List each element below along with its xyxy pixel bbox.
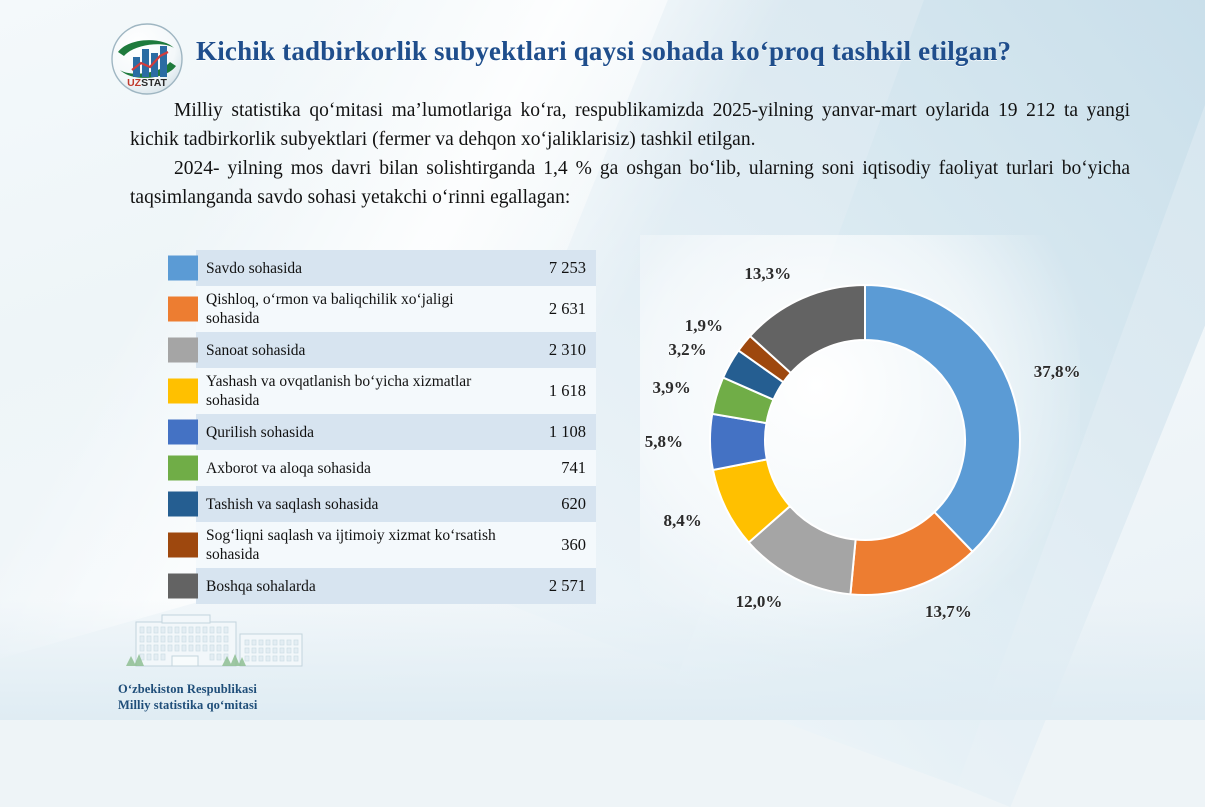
legend-color-swatch [168, 379, 198, 404]
legend-color-swatch [168, 297, 198, 322]
legend-row[interactable]: Boshqa sohalarda 2 571 [168, 568, 598, 604]
legend-value: 7 253 [512, 258, 586, 278]
legend-color-swatch [168, 420, 198, 445]
legend-row[interactable]: Sanoat sohasida 2 310 [168, 332, 598, 368]
footer-line-1: O‘zbekiston Respublikasi [118, 681, 448, 697]
legend-row[interactable]: Sog‘liqni saqlash va ijtimoiy xizmat ko‘… [168, 522, 598, 568]
legend-value: 2 631 [512, 299, 586, 319]
legend-label: Boshqa sohalarda [206, 577, 512, 596]
legend-value: 620 [512, 494, 586, 514]
legend-value: 2 571 [512, 576, 586, 596]
legend-label: Savdo sohasida [206, 259, 512, 278]
legend-color-swatch [168, 574, 198, 599]
paragraph-comparison: 2024- yilning mos davri bilan solishtirg… [130, 154, 1130, 212]
donut-percent-label: 12,0% [736, 592, 783, 612]
legend-color-swatch [168, 256, 198, 281]
legend-color-swatch [168, 492, 198, 517]
legend-label: Qurilish sohasida [206, 423, 512, 442]
legend-label: Sanoat sohasida [206, 341, 512, 360]
donut-chart-svg [640, 250, 1100, 650]
body-text: Milliy statistika qo‘mitasi ma’lumotlari… [130, 96, 1130, 212]
legend-value: 360 [512, 535, 586, 555]
legend-color-swatch [168, 533, 198, 558]
page-title: Kichik tadbirkorlik subyektlari qaysi so… [196, 36, 1156, 67]
donut-percent-label: 5,8% [645, 432, 683, 452]
svg-text:UZSTAT: UZSTAT [127, 77, 167, 89]
header: UZSTAT Kichik tadbirkorlik subyektlari q… [0, 0, 1205, 95]
legend-color-swatch [168, 338, 198, 363]
legend-label: Sog‘liqni saqlash va ijtimoiy xizmat ko‘… [206, 526, 512, 564]
legend-color-swatch [168, 456, 198, 481]
legend-value: 1 108 [512, 422, 586, 442]
statistics-committee-building-icon [118, 612, 314, 674]
legend-label: Yashash va ovqatlanish bo‘yicha xizmatla… [206, 372, 512, 410]
legend-row[interactable]: Qishloq, o‘rmon va baliqchilik xo‘jaligi… [168, 286, 598, 332]
uzstat-bar-chart-logo-icon: UZSTAT [110, 22, 184, 96]
donut-chart: 37,8%13,7%12,0%8,4%5,8%3,9%3,2%1,9%13,3% [640, 250, 1100, 650]
legend-label: Tashish va saqlash sohasida [206, 495, 512, 514]
donut-percent-label: 13,7% [925, 602, 972, 622]
legend-label: Axborot va aloqa sohasida [206, 459, 512, 478]
legend-row[interactable]: Tashish va saqlash sohasida 620 [168, 486, 598, 522]
footer-line-2: Milliy statistika qo‘mitasi [118, 697, 448, 713]
donut-percent-label: 3,2% [668, 340, 706, 360]
legend-value: 2 310 [512, 340, 586, 360]
legend-row[interactable]: Axborot va aloqa sohasida 741 [168, 450, 598, 486]
legend-label: Qishloq, o‘rmon va baliqchilik xo‘jaligi… [206, 290, 512, 328]
donut-percent-label: 8,4% [664, 511, 702, 531]
donut-percent-label: 37,8% [1034, 362, 1081, 382]
donut-percent-label: 13,3% [744, 264, 791, 284]
uzstat-logo: UZSTAT [110, 22, 184, 96]
legend-row[interactable]: Savdo sohasida 7 253 [168, 250, 598, 286]
donut-percent-label: 1,9% [685, 316, 723, 336]
legend-row[interactable]: Yashash va ovqatlanish bo‘yicha xizmatla… [168, 368, 598, 414]
legend-row[interactable]: Qurilish sohasida 1 108 [168, 414, 598, 450]
legend-value: 741 [512, 458, 586, 478]
legend-value: 1 618 [512, 381, 586, 401]
paragraph-intro: Milliy statistika qo‘mitasi ma’lumotlari… [130, 96, 1130, 154]
donut-segment[interactable] [865, 285, 1020, 552]
donut-percent-label: 3,9% [652, 378, 690, 398]
legend-table: Savdo sohasida 7 253 Qishloq, o‘rmon va … [168, 250, 598, 604]
footer: O‘zbekiston Respublikasi Milliy statisti… [118, 612, 448, 713]
